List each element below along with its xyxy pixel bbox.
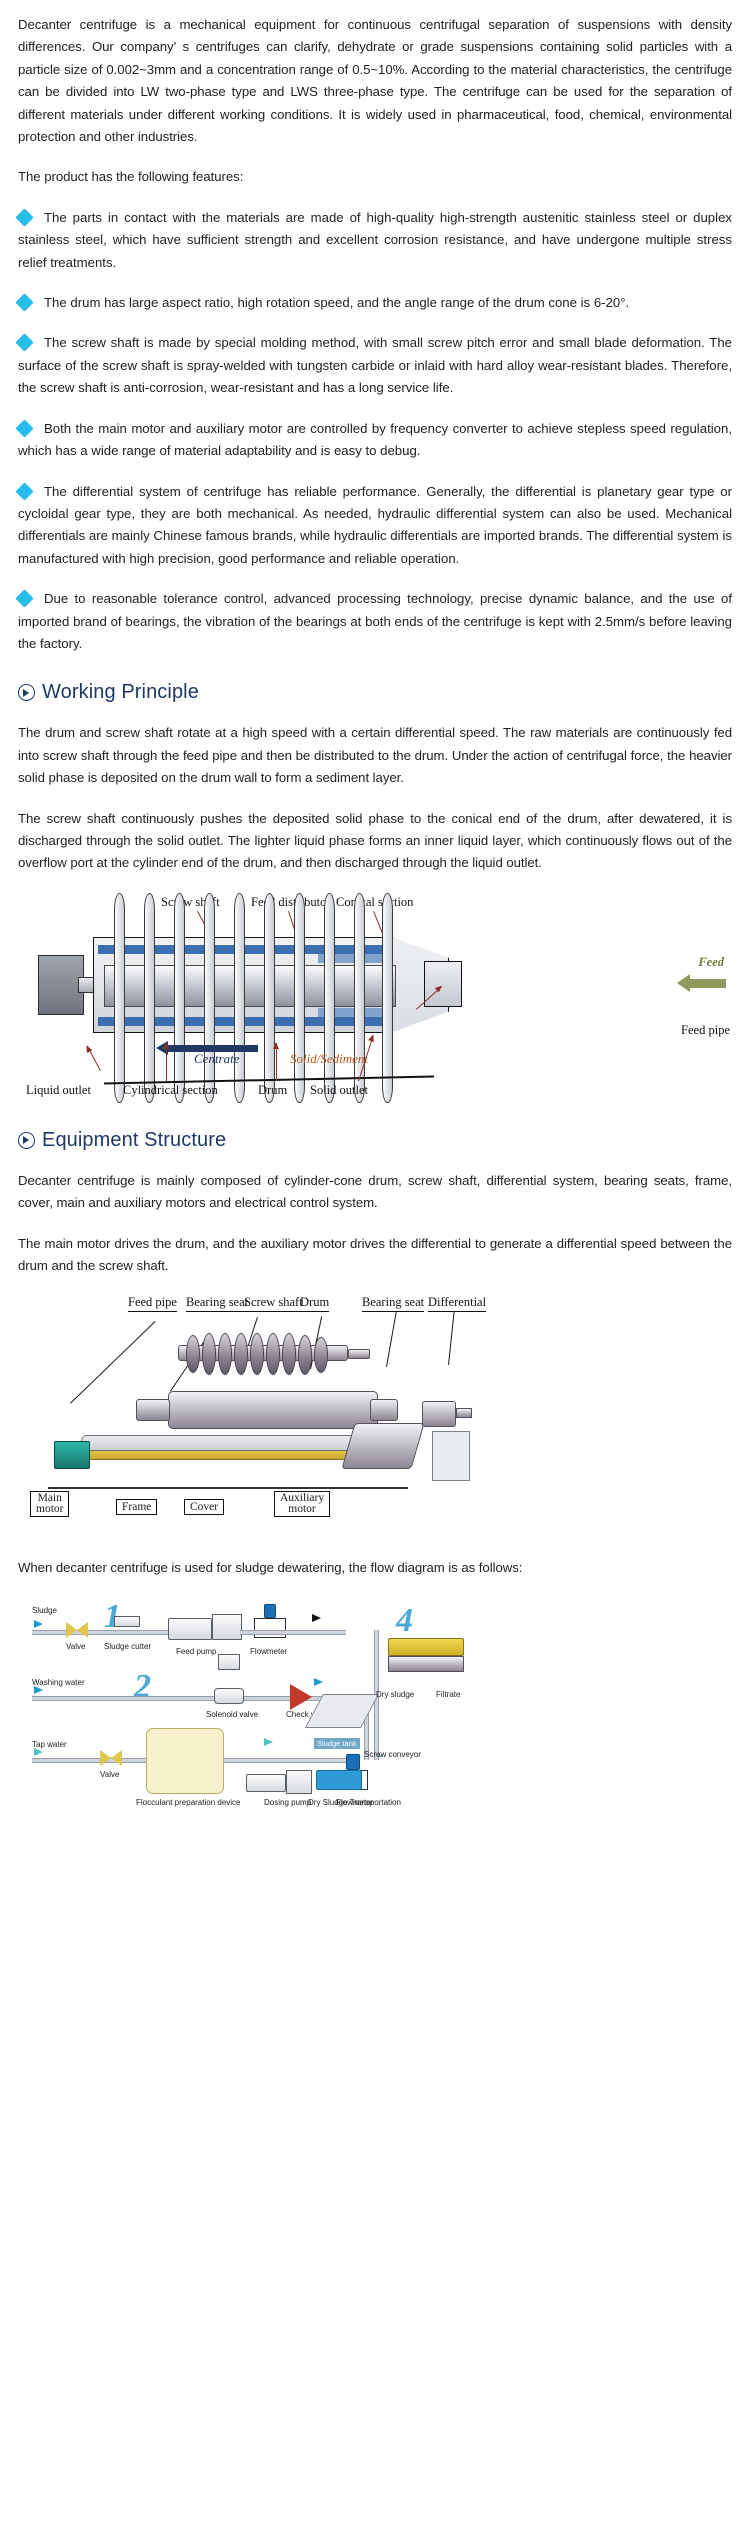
label-feed-distributor: Feed distributor [251, 895, 331, 910]
solenoid-actuator-icon [218, 1654, 240, 1670]
arrow-sludge-inlet [34, 1620, 43, 1628]
features-lead-text: The product has the following features: [18, 166, 732, 188]
label-differential: Differential [428, 1295, 486, 1312]
label-drum: Drum [258, 1083, 287, 1098]
feature-item: Due to reasonable tolerance control, adv… [18, 588, 732, 655]
valve-icon-sludge-b [77, 1622, 88, 1638]
screw-flight [234, 1333, 248, 1375]
main-motor-graphic [54, 1441, 90, 1469]
feature-item: The drum has large aspect ratio, high ro… [18, 292, 732, 314]
arrow-circle-icon [18, 1132, 35, 1149]
intro-paragraph: Decanter centrifuge is a mechanical equi… [18, 14, 732, 148]
feature-text: The parts in contact with the materials … [18, 210, 732, 270]
label-feed-pump: Feed pump [176, 1647, 216, 1656]
valve-icon-tap [100, 1750, 111, 1766]
diamond-bullet-icon [15, 208, 33, 226]
label-valve-tap: Valve [100, 1770, 119, 1779]
diamond-bullet-icon [15, 334, 33, 352]
label-cover: Cover [184, 1499, 224, 1515]
centrifuge-body-icon [388, 1656, 464, 1672]
flocculant-preparation-device-icon [146, 1728, 224, 1794]
feed-pump-icon [168, 1618, 212, 1640]
feature-text: The screw shaft is made by special moldi… [18, 335, 732, 395]
flowmeter-1-icon [254, 1618, 286, 1638]
arrow-washing-water-out [314, 1678, 323, 1686]
label-sludge-cutter: Sludge cutter [104, 1642, 151, 1651]
pipe-after-flowmeter-1 [240, 1630, 346, 1635]
differential-graphic [422, 1401, 456, 1427]
diamond-bullet-icon [15, 419, 33, 437]
arrow-to-centrifuge-sludge [312, 1614, 321, 1622]
check-valve-icon [290, 1684, 312, 1710]
drum-cone-end-graphic [136, 1399, 170, 1421]
label-bearing-seat-right: Bearing seat [362, 1295, 424, 1312]
working-principle-paragraph-2: The screw shaft continuously pushes the … [18, 808, 732, 875]
arrow-washing-water-inlet [34, 1686, 43, 1694]
leader-line-liquid-outlet [87, 1045, 101, 1070]
screw-flight [282, 1333, 296, 1375]
valve-icon-sludge [66, 1622, 77, 1638]
solenoid-valve-icon [214, 1688, 244, 1704]
label-drum: Drum [300, 1295, 329, 1312]
drum-graphic [168, 1391, 378, 1429]
drum-end-graphic [370, 1399, 398, 1421]
diamond-bullet-icon [15, 482, 33, 500]
flowmeter-2-head-icon [346, 1754, 360, 1770]
screw-flight [186, 1335, 200, 1373]
label-cylindrical-section: Cylindrical section [123, 1083, 218, 1098]
helix-blade [382, 893, 393, 1103]
section-title-text: Equipment Structure [42, 1129, 226, 1152]
label-feed: Feed [698, 955, 724, 970]
leader-line-drum [276, 1043, 277, 1081]
screw-shaft-journal [348, 1349, 370, 1359]
label-flowmeter-1: Flowmeter [250, 1647, 287, 1656]
auxiliary-motor-housing [341, 1423, 424, 1469]
working-principle-paragraph-1: The drum and screw shaft rotate at a hig… [18, 722, 732, 789]
helix-blade [234, 893, 245, 1103]
feature-text: The differential system of centrifuge ha… [18, 484, 732, 566]
diamond-bullet-icon [15, 293, 33, 311]
flowmeter-1-head-icon [264, 1604, 276, 1618]
helix-blade [264, 893, 275, 1103]
screw-flight [314, 1337, 328, 1373]
label-bearing-seat-left: Bearing seat [186, 1295, 248, 1312]
helix-blade [294, 893, 305, 1103]
leader-line-feed-pipe [70, 1321, 156, 1404]
equipment-structure-paragraph-1: Decanter centrifuge is mainly composed o… [18, 1170, 732, 1215]
label-valve-sludge: Valve [66, 1642, 85, 1651]
equipment-structure-paragraph-2: The main motor drives the drum, and the … [18, 1233, 732, 1278]
screw-flight [202, 1333, 216, 1375]
figure-sludge-dewatering-flow-diagram: 1 2 3 4 Sludge Valve Sludge cutter Feed … [18, 1598, 732, 1834]
arrow-circle-icon [18, 684, 35, 701]
product-description-page: Decanter centrifuge is a mechanical equi… [0, 0, 750, 1844]
screw-flight [250, 1333, 264, 1375]
label-screw-conveyor: Screw conveyor [364, 1750, 421, 1759]
centrifuge-icon [388, 1638, 464, 1656]
label-sludge-tank: Sludge tank [314, 1738, 360, 1749]
arrow-flocculant-out [264, 1738, 273, 1746]
dosing-pump-head-icon [286, 1770, 312, 1794]
differential-shaft-graphic [456, 1408, 472, 1418]
flow-diagram-intro-text: When decanter centrifuge is used for slu… [18, 1557, 732, 1579]
label-screw-shaft: Screw shaft [244, 1295, 303, 1312]
label-washing-water: Washing water [32, 1678, 85, 1687]
feature-text: The drum has large aspect ratio, high ro… [44, 295, 629, 310]
label-feed-pipe: Feed pipe [681, 1023, 730, 1038]
label-dry-sludge: Dry sludge [376, 1690, 414, 1699]
label-solid-outlet: Solid outlet [310, 1083, 368, 1098]
label-flocculant-device: Flocculant preparation device [136, 1798, 241, 1807]
electrical-cabinet-grill [432, 1431, 470, 1481]
screw-flight [266, 1333, 280, 1375]
screw-flight [218, 1333, 232, 1375]
figure-centrifuge-cross-section: Screw shaft Feed distributor Conical sec… [18, 893, 732, 1103]
section-heading-working-principle: Working Principle [18, 681, 732, 704]
dosing-pump-icon [246, 1774, 286, 1792]
helix-blade [204, 893, 215, 1103]
label-solenoid-valve: Solenoid valve [206, 1710, 258, 1719]
diamond-bullet-icon [15, 589, 33, 607]
feed-pump-head-icon [212, 1614, 242, 1640]
valve-icon-tap-b [111, 1750, 122, 1766]
feature-text: Both the main motor and auxiliary motor … [18, 421, 732, 458]
feature-item: The parts in contact with the materials … [18, 207, 732, 274]
label-sludge: Sludge [32, 1606, 57, 1615]
feature-item: The differential system of centrifuge ha… [18, 481, 732, 571]
label-feed-pipe: Feed pipe [128, 1295, 177, 1312]
feature-item: The screw shaft is made by special moldi… [18, 332, 732, 399]
helix-blade [324, 893, 335, 1103]
label-conical-section: Conical section [336, 895, 413, 910]
leader-line-bearing-seat-right [386, 1312, 397, 1367]
feature-text: Due to reasonable tolerance control, adv… [18, 591, 732, 651]
helix-blade [144, 893, 155, 1103]
arrow-tap-water-inlet [34, 1748, 43, 1756]
feature-item: Both the main motor and auxiliary motor … [18, 418, 732, 463]
flow-step-number: 4 [396, 1604, 413, 1638]
label-frame: Frame [116, 1499, 157, 1515]
label-tap-water: Tap water [32, 1740, 67, 1749]
dry-sludge-truck-icon [316, 1770, 362, 1790]
leader-line-differential [448, 1312, 455, 1366]
figure-equipment-assembly: Feed pipe Bearing seat Screw shaft Drum … [18, 1295, 732, 1527]
leader-line-cylindrical-section [166, 1043, 167, 1081]
label-dosing-pump: Dosing pump [264, 1798, 311, 1807]
sludge-cutter-icon [114, 1616, 140, 1627]
label-auxiliary-motor: Auxiliary motor [274, 1491, 330, 1517]
label-filtrate: Filtrate [436, 1690, 460, 1699]
label-dry-sludge-transportation: Dry Sludge Transportation [308, 1798, 401, 1807]
section-heading-equipment-structure: Equipment Structure [18, 1129, 732, 1152]
helix-blade [114, 893, 125, 1103]
label-liquid-outlet: Liquid outlet [26, 1083, 91, 1098]
section-title-text: Working Principle [42, 681, 199, 704]
label-solid-sediment: Solid/Sediment [290, 1051, 368, 1067]
label-main-motor: Main motor [30, 1491, 69, 1517]
solid-outlet-housing-graphic [424, 961, 462, 1007]
helix-blade [174, 893, 185, 1103]
helix-blade [354, 893, 365, 1103]
feed-flow-arrow [690, 979, 726, 988]
screw-flight [298, 1335, 312, 1375]
figure2-base-line [48, 1487, 408, 1488]
label-centrate: Centrate [194, 1051, 240, 1067]
cover-graphic [77, 1435, 379, 1451]
